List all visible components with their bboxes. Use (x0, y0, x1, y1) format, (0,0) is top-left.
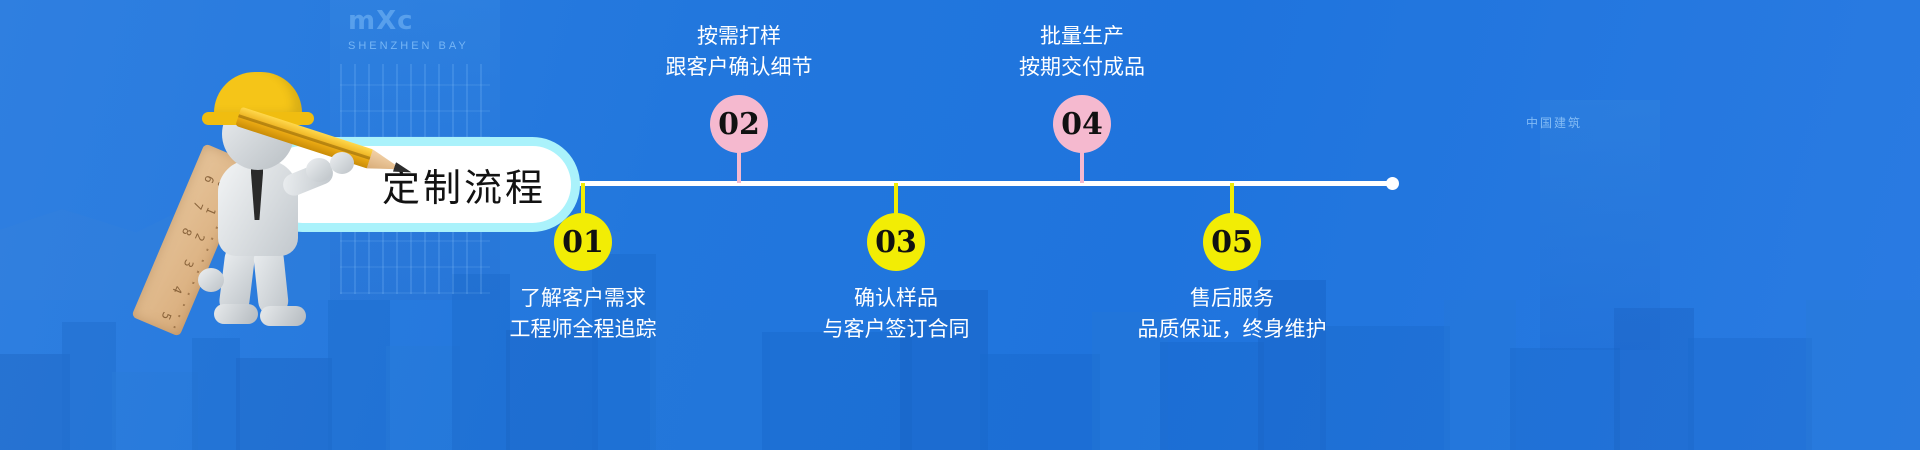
building (1160, 342, 1264, 450)
banner-stage: mXc SHENZHEN BAY 中国建筑 定制流程 0 1 2 3 4 5 6… (0, 0, 1920, 450)
step-caption: 售后服务 品质保证，终身维护 (1138, 283, 1327, 345)
step-caption-line-1: 按需打样 (666, 21, 813, 52)
character-hand-b (330, 152, 354, 174)
building (980, 354, 1100, 450)
step-stem (581, 183, 585, 217)
step-caption: 批量生产 按期交付成品 (1019, 21, 1145, 83)
building (506, 330, 598, 450)
step-stem (737, 149, 741, 183)
step-caption-line-2: 按期交付成品 (1019, 52, 1145, 83)
step-caption-line-2: 跟客户确认细节 (666, 52, 813, 83)
character-shoe-right (260, 306, 306, 326)
building (192, 338, 240, 450)
character-hand-c (198, 268, 224, 292)
building (650, 310, 770, 450)
building (0, 354, 70, 450)
step-stem (1230, 183, 1234, 217)
building (1806, 300, 1920, 450)
step-stem (894, 183, 898, 217)
building (112, 372, 198, 450)
building (452, 274, 510, 450)
building (62, 322, 116, 450)
worker-character-illustration: 0 1 2 3 4 5 6 7 8 (178, 72, 338, 322)
tower-logo-text: mXc (348, 6, 414, 36)
step-caption-line-1: 确认样品 (823, 283, 970, 314)
building (1320, 326, 1450, 450)
building (762, 332, 912, 450)
step-caption-line-1: 售后服务 (1138, 283, 1327, 314)
step-number-badge: 05 (1203, 213, 1261, 271)
right-tower: 中国建筑 (1540, 100, 1660, 350)
step-stem (1080, 149, 1084, 183)
right-tower-text: 中国建筑 (1526, 108, 1582, 139)
step-number-badge: 01 (554, 213, 612, 271)
tower-logo: mXc (348, 6, 478, 40)
step-number-badge: 04 (1053, 95, 1111, 153)
step-number-badge: 02 (710, 95, 768, 153)
character-hand-a (306, 158, 332, 182)
building (328, 300, 390, 450)
building (1510, 348, 1620, 450)
tower-logo-subtext: SHENZHEN BAY (348, 40, 469, 52)
step-caption-line-2: 工程师全程追踪 (510, 314, 657, 345)
step-caption-line-2: 品质保证，终身维护 (1138, 314, 1327, 345)
character-shoe-left (214, 304, 258, 324)
timeline-end-dot (1386, 177, 1399, 190)
building (1444, 300, 1516, 450)
step-caption-line-2: 与客户签订合同 (823, 314, 970, 345)
step-caption-line-1: 了解客户需求 (510, 283, 657, 314)
step-caption: 按需打样 跟客户确认细节 (666, 21, 813, 83)
step-number-badge: 03 (867, 213, 925, 271)
step-caption: 确认样品 与客户签订合同 (823, 283, 970, 345)
building (386, 346, 460, 450)
building (1688, 338, 1812, 450)
step-caption-line-1: 批量生产 (1019, 21, 1145, 52)
step-caption: 了解客户需求 工程师全程追踪 (510, 283, 657, 345)
timeline-line (575, 181, 1395, 186)
building (236, 358, 332, 450)
